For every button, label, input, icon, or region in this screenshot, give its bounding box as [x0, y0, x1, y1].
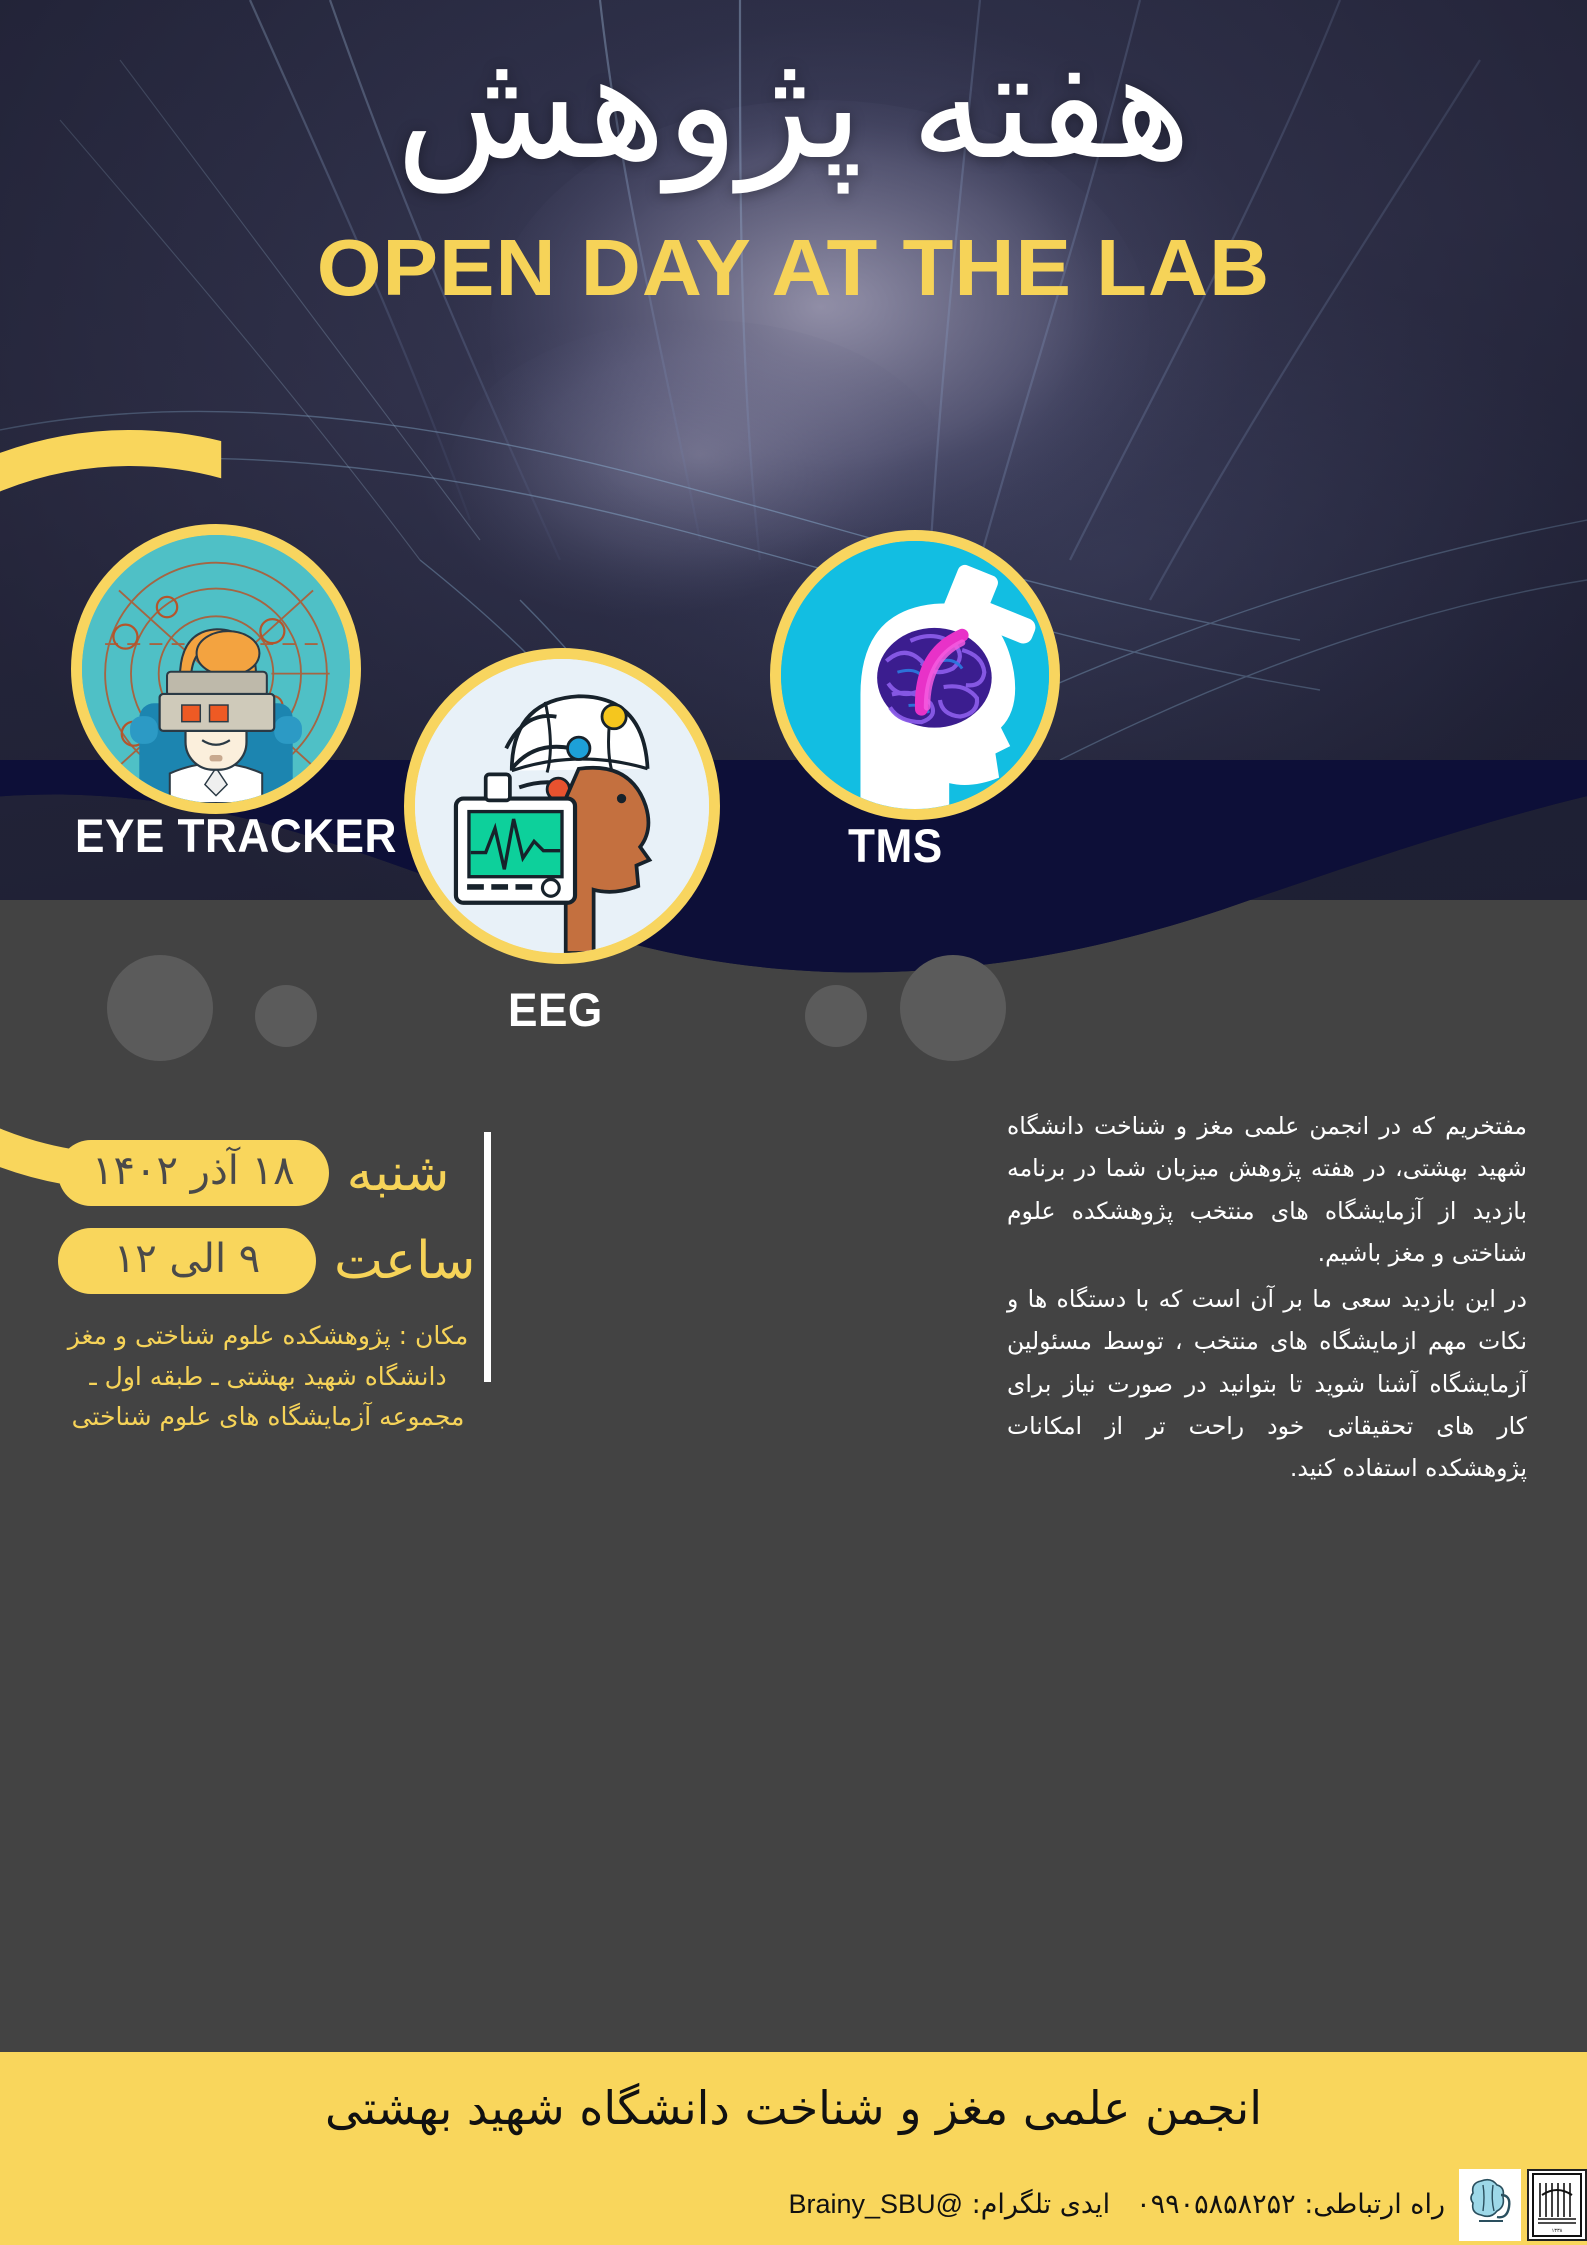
telegram-group[interactable]: ایدی تلگرام: @Brainy_SBU	[789, 2189, 1111, 2220]
shahid-beheshti-logo-icon: ۱۳۳۸	[1532, 2173, 1582, 2237]
eye-tracker-label: EYE TRACKER	[75, 808, 397, 863]
phone-group: راه ارتباطی: ۰۹۹۰۵۸۵۸۲۵۲	[1136, 2189, 1445, 2220]
decor-circle-1	[107, 955, 213, 1061]
university-logo: ۱۳۳۸	[1527, 2169, 1587, 2241]
footer-band: انجمن علمی مغز و شناخت دانشگاه شهید بهشت…	[0, 2052, 1587, 2164]
schedule-date-row: شنبه ۱۸ آذر ۱۴۰۲	[58, 1140, 478, 1206]
organization-name: انجمن علمی مغز و شناخت دانشگاه شهید بهشت…	[325, 2081, 1262, 2135]
tms-icon	[781, 541, 1049, 809]
time-badge: ۹ الی ۱۲	[58, 1228, 316, 1294]
svg-text:۱۳۳۸: ۱۳۳۸	[1552, 2228, 1563, 2234]
vertical-divider	[484, 1132, 491, 1382]
eeg-circle[interactable]	[404, 648, 720, 964]
eye-tracker-circle[interactable]	[71, 524, 361, 814]
logo-group: ۱۳۳۸	[1445, 2169, 1587, 2241]
decor-circle-3	[805, 985, 867, 1047]
schedule-block: شنبه ۱۸ آذر ۱۴۰۲ ساعت ۹ الی ۱۲ مکان : پژ…	[58, 1140, 478, 1438]
eeg-icon	[415, 659, 709, 953]
decor-circle-4	[900, 955, 1006, 1061]
poster-title-english: OPEN DAY AT THE LAB	[0, 222, 1587, 314]
time-label: ساعت	[334, 1235, 476, 1287]
phone-label: راه ارتباطی:	[1304, 2189, 1445, 2220]
decor-circle-2	[255, 985, 317, 1047]
association-logo	[1459, 2169, 1521, 2241]
day-label: شنبه	[347, 1147, 450, 1199]
tms-circle[interactable]	[770, 530, 1060, 820]
schedule-time-row: ساعت ۹ الی ۱۲	[58, 1228, 478, 1294]
telegram-label: ایدی تلگرام:	[972, 2189, 1110, 2220]
contact-strip: ۱۳۳۸ راه ارتباطی: ۰۹۹۰۵۸۵۸۲۵۲ ا	[0, 2164, 1587, 2245]
tms-label: TMS	[848, 818, 943, 873]
brain-association-logo-icon	[1463, 2173, 1517, 2237]
location-text: مکان : پژوهشکده علوم شناختی و مغز دانشگا…	[58, 1316, 478, 1438]
eye-tracker-icon	[82, 535, 350, 803]
description-paragraph-1: مفتخریم که در انجمن علمی مغز و شناخت دان…	[1007, 1105, 1527, 1274]
telegram-handle[interactable]: @Brainy_SBU	[789, 2189, 964, 2219]
contact-info: راه ارتباطی: ۰۹۹۰۵۸۵۸۲۵۲ ایدی تلگرام: @B…	[389, 2189, 1446, 2220]
eeg-label: EEG	[508, 982, 603, 1037]
poster-root: هفته پژوهش OPEN DAY AT THE LAB	[0, 0, 1587, 2245]
poster-title-persian: هفته پژوهش	[0, 28, 1587, 186]
description-block: مفتخریم که در انجمن علمی مغز و شناخت دان…	[1007, 1105, 1527, 1490]
description-paragraph-2: در این بازدید سعی ما بر آن است که با دست…	[1007, 1278, 1527, 1489]
date-badge: ۱۸ آذر ۱۴۰۲	[58, 1140, 329, 1206]
phone-value: ۰۹۹۰۵۸۵۸۲۵۲	[1136, 2189, 1296, 2220]
